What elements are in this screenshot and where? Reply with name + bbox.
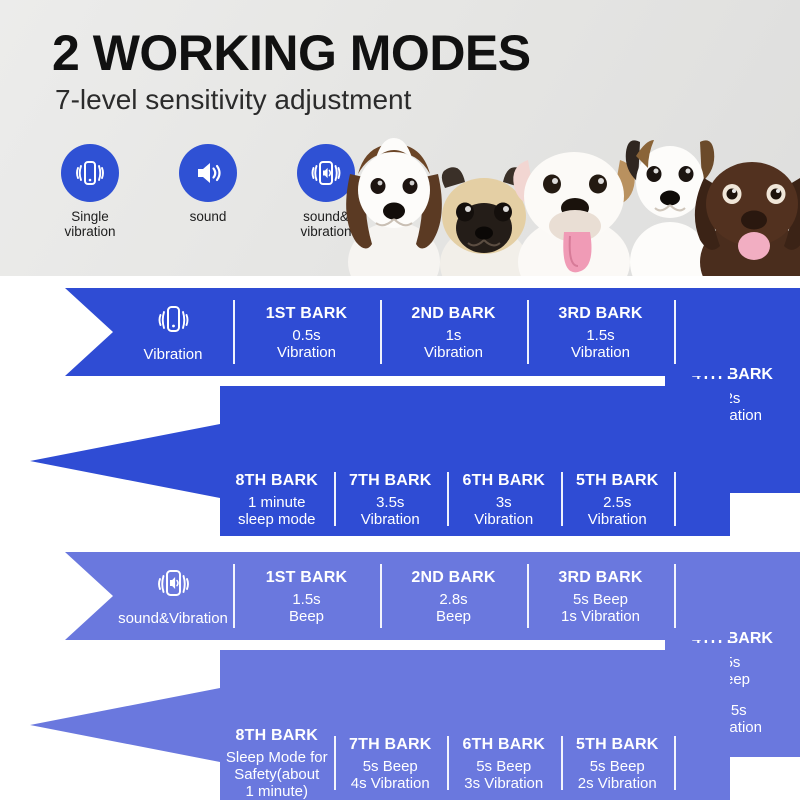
- bark-title: 5TH BARK: [576, 735, 659, 755]
- sound-vibration-row-barks-1-3: sound&Vibration 1ST BARK 1.5s Beep 2ND B…: [65, 552, 730, 640]
- bark-title: 1ST BARK: [266, 568, 348, 588]
- bark-cell-2nd: 2ND BARK 2.8s Beep: [380, 552, 527, 640]
- bark-title: 3RD BARK: [558, 304, 642, 324]
- bark-title: 8TH BARK: [236, 726, 319, 746]
- phone-vibration-icon: [61, 144, 119, 202]
- bark-detail-line-2: Vibration: [424, 344, 483, 361]
- header-section: 2 WORKING MODES 7-level sensitivity adju…: [0, 0, 800, 276]
- vibration-row-barks-1-3: Vibration 1ST BARK 0.5s Vibration 2ND BA…: [65, 288, 730, 376]
- bark-detail-line-1: 2.5s: [588, 494, 647, 511]
- vibration-mode-band: 4TH BARK 2s Vibration: [0, 288, 800, 536]
- bark-detail-line-2: Safety(about: [226, 766, 328, 783]
- bark-title: 7TH BARK: [349, 735, 432, 755]
- bark-detail: 1s Vibration: [424, 327, 483, 361]
- bark-detail-line-1: 5s Beep: [561, 591, 640, 608]
- bark-title: 3RD BARK: [558, 568, 642, 588]
- bark-cell-1st: 1ST BARK 1.5s Beep: [233, 552, 380, 640]
- bark-detail-line-1: 5s Beep: [464, 758, 543, 775]
- dog-chocolate-labrador: [695, 162, 800, 276]
- bark-detail-line-2: Vibration: [571, 344, 630, 361]
- infographic-page: 2 WORKING MODES 7-level sensitivity adju…: [0, 0, 800, 800]
- mode-cell-label: sound&Vibration: [118, 610, 228, 627]
- bark-detail: 2.8s Beep: [436, 591, 471, 625]
- bark-title: 2ND BARK: [411, 568, 495, 588]
- bark-detail-line-2: 2s Vibration: [578, 775, 657, 792]
- bark-detail-line-2: Vibration: [361, 511, 420, 528]
- bark-title: 1ST BARK: [266, 304, 348, 324]
- bark-detail: 3s Vibration: [474, 494, 533, 528]
- bark-detail: 3.5s Vibration: [361, 494, 420, 528]
- bark-title: 6TH BARK: [463, 471, 546, 491]
- dog-photo-group: [332, 112, 800, 276]
- mode-label-single-vibration: Single vibration: [64, 209, 115, 239]
- bark-detail: 5s Beep 4s Vibration: [351, 758, 430, 792]
- phone-sound-vibration-icon: [155, 565, 191, 605]
- bark-detail-line-1: 1.5s: [289, 591, 324, 608]
- bark-detail-line-1: 3s: [474, 494, 533, 511]
- bark-detail: 1 minute sleep mode: [238, 494, 316, 528]
- bark-detail-line-2: Vibration: [277, 344, 336, 361]
- bark-cell-7th: 7TH BARK 5s Beep 4s Vibration: [334, 726, 448, 800]
- mode-cell-label: Vibration: [144, 346, 203, 363]
- mode-label-sound: sound: [190, 209, 227, 224]
- bark-cell-5th: 5TH BARK 5s Beep 2s Vibration: [561, 726, 675, 800]
- bark-cell-7th: 7TH BARK 3.5s Vibration: [334, 462, 448, 536]
- bark-detail: Sleep Mode for Safety(about 1 minute): [226, 749, 328, 800]
- mode-label-line-1: sound: [190, 209, 227, 224]
- bark-title: 7TH BARK: [349, 471, 432, 491]
- bark-detail-line-2: Beep: [289, 608, 324, 625]
- bark-detail: 0.5s Vibration: [277, 327, 336, 361]
- bark-detail-line-2: Vibration: [588, 511, 647, 528]
- mode-icon-list: Single vibration sound: [52, 144, 364, 239]
- bark-cell-spacer: [674, 288, 730, 376]
- bark-cell-3rd: 3RD BARK 1.5s Vibration: [527, 288, 674, 376]
- bark-cell-3rd: 3RD BARK 5s Beep 1s Vibration: [527, 552, 674, 640]
- bark-cell-spacer: [674, 726, 730, 800]
- bark-cell-1st: 1ST BARK 0.5s Vibration: [233, 288, 380, 376]
- bark-title: 2ND BARK: [411, 304, 495, 324]
- bark-detail-line-1: 2.8s: [436, 591, 471, 608]
- phone-vibration-icon: [155, 301, 191, 341]
- bark-detail-line-1: 1.5s: [571, 327, 630, 344]
- bark-cell-8th: 8TH BARK Sleep Mode for Safety(about 1 m…: [220, 726, 334, 800]
- bark-cell-6th: 6TH BARK 5s Beep 3s Vibration: [447, 726, 561, 800]
- bark-detail: 2.5s Vibration: [588, 494, 647, 528]
- bark-cell-spacer: [674, 552, 730, 640]
- bark-cell-2nd: 2ND BARK 1s Vibration: [380, 288, 527, 376]
- page-title: 2 WORKING MODES: [52, 24, 531, 82]
- bark-detail-line-1: 1s: [424, 327, 483, 344]
- bark-detail-line-2: Beep: [436, 608, 471, 625]
- bark-detail-line-1: 5s Beep: [351, 758, 430, 775]
- bark-detail: 1.5s Vibration: [571, 327, 630, 361]
- bark-title: 5TH BARK: [576, 471, 659, 491]
- mode-cell-sound-vibration: sound&Vibration: [113, 552, 233, 640]
- bark-cell-6th: 6TH BARK 3s Vibration: [447, 462, 561, 536]
- bark-detail-line-1: 1 minute: [238, 494, 316, 511]
- mode-item-single-vibration: Single vibration: [52, 144, 128, 239]
- mode-label-line-1: Single: [64, 209, 115, 224]
- bark-detail-line-1: 3.5s: [361, 494, 420, 511]
- bark-detail-line-2: 1s Vibration: [561, 608, 640, 625]
- mode-cell-vibration: Vibration: [113, 288, 233, 376]
- bark-detail: 5s Beep 1s Vibration: [561, 591, 640, 625]
- bark-title: 6TH BARK: [463, 735, 546, 755]
- bark-detail-line-3: 1 minute): [226, 783, 328, 800]
- bark-detail-line-2: 4s Vibration: [351, 775, 430, 792]
- bark-cell-spacer: [674, 462, 730, 536]
- dog-english-bulldog: [513, 152, 634, 276]
- mode-item-sound: sound: [170, 144, 246, 239]
- mode-label-line-2: vibration: [64, 224, 115, 239]
- bark-cell-8th: 8TH BARK 1 minute sleep mode: [220, 462, 334, 536]
- bark-detail-line-1: 0.5s: [277, 327, 336, 344]
- bark-detail: 1.5s Beep: [289, 591, 324, 625]
- dog-beagle: [346, 138, 442, 276]
- sound-vibration-mode-band: 4TH BARK 5s Beep 1.5s Vibration: [0, 552, 800, 800]
- bark-title: 8TH BARK: [236, 471, 319, 491]
- speaker-sound-icon: [179, 144, 237, 202]
- bark-detail-line-2: sleep mode: [238, 511, 316, 528]
- bark-detail-line-1: Sleep Mode for: [226, 749, 328, 766]
- bark-detail: 5s Beep 2s Vibration: [578, 758, 657, 792]
- bark-detail-line-2: 3s Vibration: [464, 775, 543, 792]
- bark-detail-line-2: Vibration: [474, 511, 533, 528]
- bark-detail: 5s Beep 3s Vibration: [464, 758, 543, 792]
- bark-cell-5th: 5TH BARK 2.5s Vibration: [561, 462, 675, 536]
- bark-detail-line-1: 5s Beep: [578, 758, 657, 775]
